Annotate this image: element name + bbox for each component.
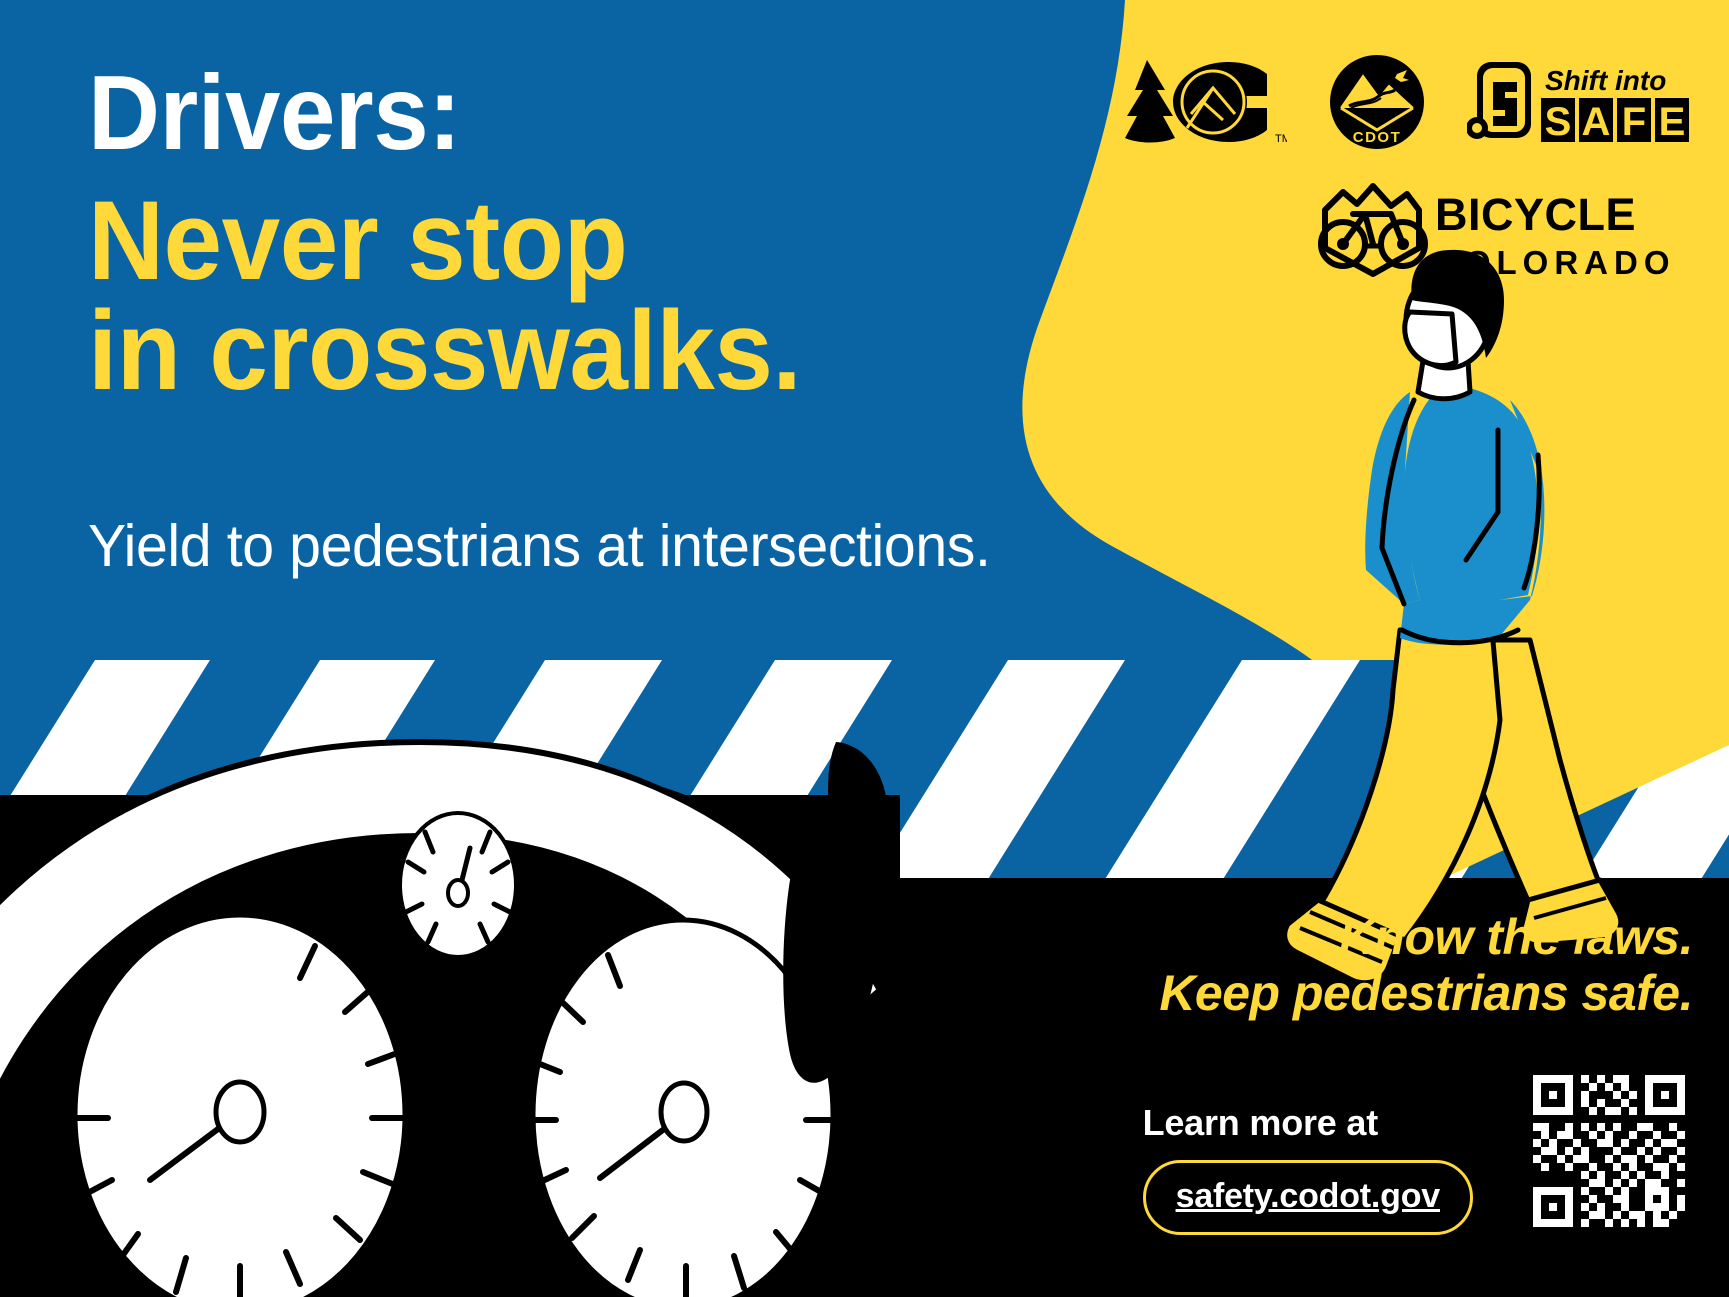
svg-text:F: F — [1622, 100, 1646, 144]
logo-row-secondary: BICYCLE COLORADO — [1059, 174, 1689, 282]
colorado-100-logo: TM — [1117, 56, 1287, 148]
logo-cluster: TM CDOT — [1059, 52, 1689, 282]
safe-blocks: S A F E — [1541, 98, 1689, 144]
headline-block: Drivers: Never stop in crosswalks. — [88, 62, 1138, 405]
bicycle-colorado-logo: BICYCLE COLORADO — [1295, 174, 1675, 282]
svg-text:A: A — [1582, 100, 1611, 144]
cdot-label: CDOT — [1353, 129, 1402, 146]
headline-line-2: Never stop — [88, 186, 1075, 296]
subheadline: Yield to pedestrians at intersections. — [88, 512, 991, 580]
qr-code[interactable] — [1525, 1067, 1693, 1235]
cta-learn-more-group: Learn more at safety.codot.gov — [1143, 1102, 1473, 1235]
logo-row-primary: TM CDOT — [1059, 52, 1689, 152]
cta-headline-line-1: Know the laws. — [993, 909, 1693, 965]
colorado-wordmark: COLORADO — [1435, 244, 1675, 281]
learn-more-label: Learn more at — [1143, 1102, 1473, 1144]
bicycle-wordmark: BICYCLE — [1435, 189, 1636, 240]
cta-headline-line-2: Keep pedestrians safe. — [993, 965, 1693, 1021]
cdot-logo: CDOT — [1329, 54, 1425, 150]
shift-into-safe-logo: Shift into S A F E — [1467, 56, 1689, 148]
url-button[interactable]: safety.codot.gov — [1143, 1160, 1473, 1235]
headline-line-1: Drivers: — [88, 62, 1075, 166]
svg-text:E: E — [1659, 100, 1686, 144]
svg-text:S: S — [1545, 100, 1572, 144]
headline-line-3: in crosswalks. — [88, 296, 1075, 406]
shift-into-text: Shift into — [1545, 65, 1666, 96]
poster-canvas: Drivers: Never stop in crosswalks. Yield… — [0, 0, 1729, 1297]
cta-bottom-row: Learn more at safety.codot.gov — [993, 1067, 1693, 1235]
cta-block: Know the laws. Keep pedestrians safe. Le… — [993, 909, 1693, 1235]
trademark-symbol: TM — [1275, 133, 1287, 145]
